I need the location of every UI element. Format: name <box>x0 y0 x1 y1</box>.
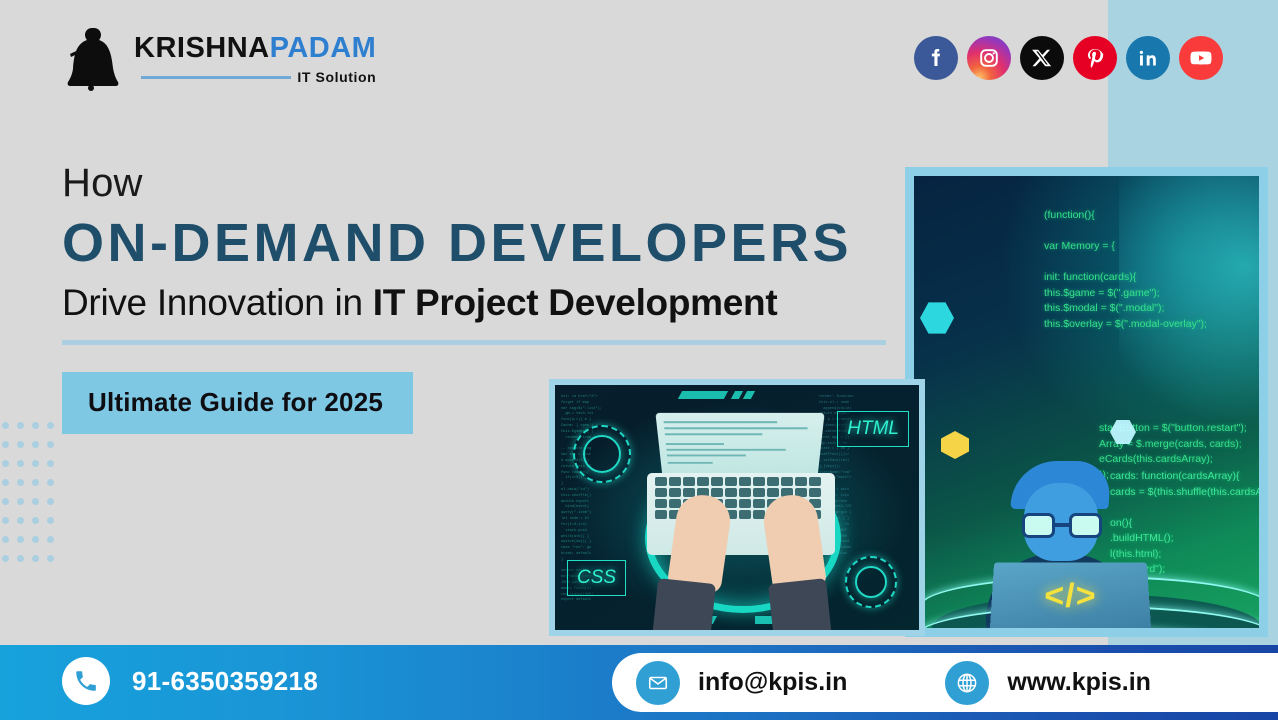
logo-primary-text: KRISHNA <box>134 32 270 64</box>
logo-divider-rule <box>141 76 291 79</box>
headline-line-3-plain: Drive Innovation in <box>62 282 373 323</box>
hud-bar-top-1 <box>678 391 728 399</box>
brand-logo[interactable]: KRISHNAPADAM IT Solution <box>62 26 376 92</box>
sleeve-left <box>652 578 716 636</box>
footer-contact-pill: info@kpis.in www.kpis.in <box>612 653 1278 712</box>
footer-website-text: www.kpis.in <box>1007 668 1151 697</box>
glasses-icon <box>1022 513 1102 539</box>
footer-contact-bar: 91-6350359218 info@kpis.in <box>0 645 1278 720</box>
envelope-icon <box>636 661 680 705</box>
podium-base-lower <box>942 628 1252 637</box>
footer-phone-group[interactable]: 91-6350359218 <box>62 657 318 705</box>
sleeve-right <box>768 578 832 636</box>
code-snippet-tertiary: cards: function(cardsArray){ cards = $(t… <box>1110 469 1268 578</box>
pinterest-icon[interactable] <box>1073 36 1117 80</box>
linkedin-icon[interactable] <box>1126 36 1170 80</box>
phone-icon <box>62 657 110 705</box>
youtube-icon[interactable] <box>1179 36 1223 80</box>
badge-label: Ultimate Guide for 2025 <box>88 387 383 417</box>
social-links <box>914 36 1223 80</box>
developer-avatar <box>1012 461 1110 566</box>
status-badge: Ultimate Guide for 2025 <box>62 372 413 434</box>
headline-line-1: How <box>62 162 912 204</box>
hud-circle-inner-left <box>583 435 621 473</box>
poster-canvas: KRISHNAPADAM IT Solution <box>0 0 1278 720</box>
footer-website-group[interactable]: www.kpis.in <box>945 661 1151 705</box>
headline-line-2: ON-DEMAND DEVELOPERS <box>62 212 912 276</box>
globe-icon <box>945 661 989 705</box>
right-hero-image: (function(){ var Memory = { init: functi… <box>905 167 1268 637</box>
logo-tagline: IT Solution <box>297 70 376 84</box>
laptop-screen <box>655 413 824 476</box>
code-snippet-primary: (function(){ var Memory = { init: functi… <box>1044 208 1268 332</box>
headline-line-3: Drive Innovation in IT Project Developme… <box>62 282 912 324</box>
footer-phone-text: 91-6350359218 <box>132 666 318 697</box>
headline-divider <box>62 340 886 345</box>
facebook-icon[interactable] <box>914 36 958 80</box>
footer-email-group[interactable]: info@kpis.in <box>636 661 847 705</box>
html-tag-label: HTML <box>837 411 909 447</box>
laptop-code-screen: </> <box>990 563 1152 632</box>
instagram-icon[interactable] <box>967 36 1011 80</box>
x-twitter-icon[interactable] <box>1020 36 1064 80</box>
code-symbol: </> <box>1044 577 1097 615</box>
center-hero-image: bit: <a href="#"> forget if map var tag=… <box>549 379 925 636</box>
css-tag-label: CSS <box>567 560 626 596</box>
krishna-flute-silhouette-icon <box>62 26 124 92</box>
headline-line-3-bold: IT Project Development <box>373 282 778 323</box>
glow-ring-3 <box>914 628 1268 637</box>
footer-email-text: info@kpis.in <box>698 668 847 697</box>
decorative-dot-grid <box>2 422 62 574</box>
hud-circle-inner-right <box>855 566 887 598</box>
headline-block: How ON-DEMAND DEVELOPERS Drive Innovatio… <box>62 162 912 345</box>
logo-secondary-text: PADAM <box>270 32 377 64</box>
